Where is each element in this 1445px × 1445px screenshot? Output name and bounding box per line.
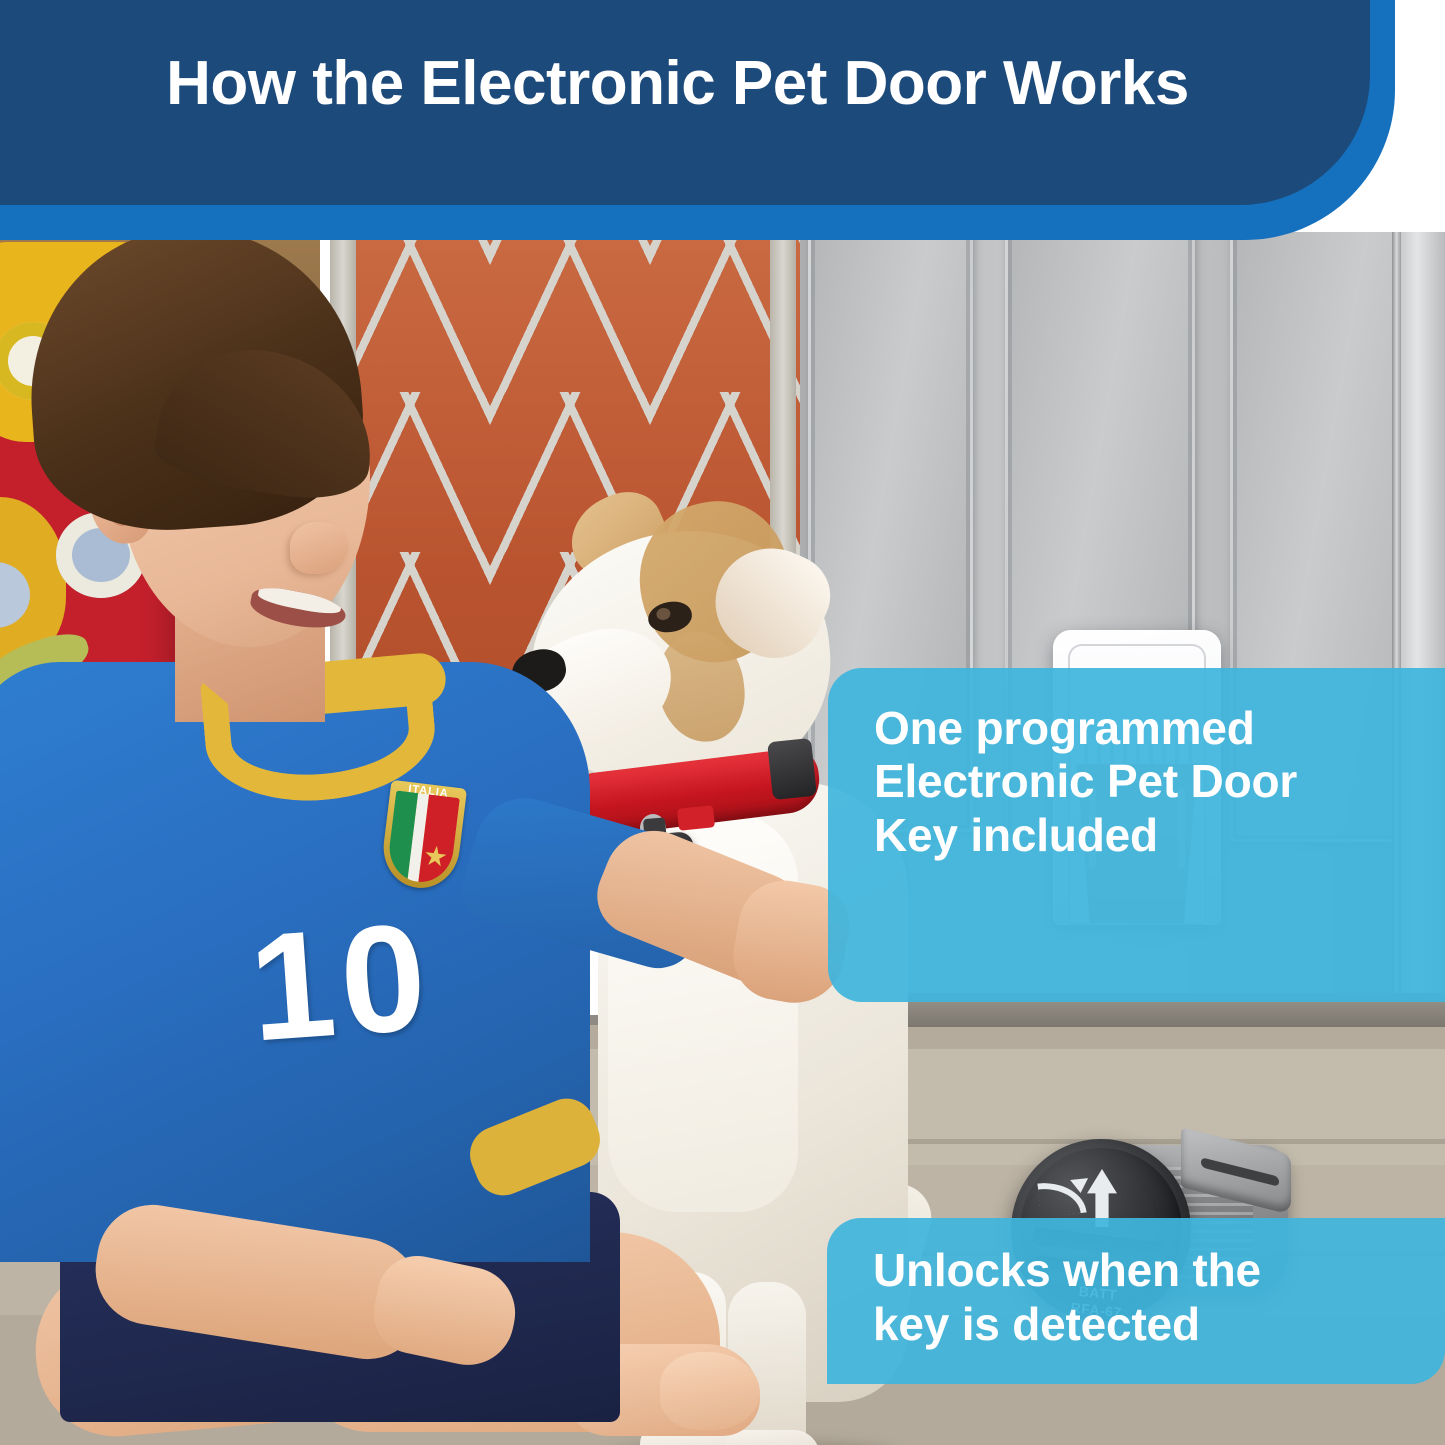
callout-line: One programmed [874, 702, 1421, 755]
jersey-number: 10 [244, 882, 535, 1071]
callout-line: Key included [874, 809, 1421, 862]
page-title: How the Electronic Pet Door Works [0, 48, 1355, 119]
callout-line: key is detected [873, 1298, 1421, 1352]
badge-flag [386, 790, 460, 885]
boy-toes [660, 1352, 760, 1430]
callout-line: Unlocks when the [873, 1244, 1421, 1298]
collar-loop [677, 805, 715, 831]
callout-line: Electronic Pet Door [874, 755, 1421, 808]
callout-key-included: One programmed Electronic Pet Door Key i… [828, 668, 1445, 1002]
boy: 10 ITALIA [0, 232, 640, 1445]
callout-unlocks-on-detect: Unlocks when the key is detected [827, 1218, 1445, 1384]
marketing-infographic: 10 ITALIA [0, 0, 1445, 1445]
collar-buckle [767, 738, 817, 800]
